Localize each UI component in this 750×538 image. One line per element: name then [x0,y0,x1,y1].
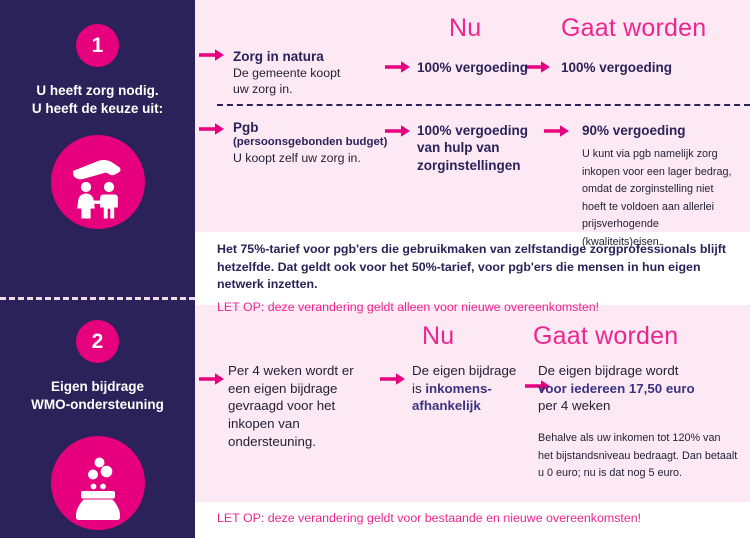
row-3-future-line2: voor iedereen 17,50 euro [538,380,738,398]
row-1-now: 100% vergoeding [417,59,537,76]
section-1-note: Het 75%-tarief voor pgb'ers die gebruikm… [217,241,737,316]
step-1-badge: 1 [76,24,119,67]
step-2-icon-circle [51,436,145,530]
step-1-title-line2: U heeft de keuze uit: [0,100,195,118]
row-3-now-line2: is inkomens- [412,380,534,398]
row-3-future-line1: De eigen bijdrage wordt [538,362,738,380]
row-3-description: Per 4 weken wordt er een eigen bijdrage … [228,362,373,450]
row-3-now-line3: afhankelijk [412,397,534,415]
section-1-header-now: Nu [449,14,481,43]
infographic-page: 1 U heeft zorg nodig. U heeft de keuze u… [0,0,750,538]
step-1-title-line1: U heeft zorg nodig. [0,82,195,100]
row-3-future-detail: Behalve als uw inkomen tot 120% van het … [538,430,738,482]
row-3-now-line1: De eigen bijdrage [412,362,534,380]
row-1-future-value: 100% vergoeding [561,59,711,76]
content-area: Nu Gaat worden Zorg in natura De gemeent… [195,0,750,538]
row-1-future: 100% vergoeding [561,59,711,76]
step-2-title-line2: WMO-ondersteuning [0,396,195,414]
purse-with-coins-icon [51,436,145,530]
row-2-arrow-1 [199,122,225,136]
row-2-future-detail: U kunt via pgb namelijk zorg inkopen voo… [582,146,740,251]
section-2-note: LET OP: deze verandering geldt voor best… [217,510,737,527]
row-2-future-value: 90% vergoeding [582,122,740,139]
row-1-option-title: Zorg in natura [233,48,373,65]
row-1-option-sub: De gemeente koopt uw zorg in. [233,66,373,98]
step-1-rail: 1 U heeft zorg nodig. U heeft de keuze u… [0,0,195,297]
step-2-rail: 2 Eigen bijdrage WMO-ondersteuning [0,300,195,538]
row-2-future: 90% vergoeding U kunt via pgb namelijk z… [582,122,740,251]
step-2-badge: 2 [76,320,119,363]
step-1-title: U heeft zorg nodig. U heeft de keuze uit… [0,82,195,118]
row-2-option-sub-line1: U koopt zelf uw zorg in. [233,151,408,167]
row-3-now-line2-strong: inkomens- [425,381,492,396]
row-2-now-line1: 100% vergoeding [417,122,547,139]
row-3-description-text: Per 4 weken wordt er een eigen bijdrage … [228,362,373,450]
row-2-arrow-3 [544,124,570,138]
section-1-note-warning: LET OP: deze verandering geldt alleen vo… [217,299,737,316]
row-3-future: De eigen bijdrage wordt voor iedereen 17… [538,362,738,482]
row-3-future-line3: per 4 weken [538,397,738,415]
row-1-option: Zorg in natura De gemeente koopt uw zorg… [233,48,373,98]
row-2-now: 100% vergoeding van hulp van zorginstell… [417,122,547,174]
row-2-option-title: Pgb [233,119,408,136]
row-1-now-value: 100% vergoeding [417,59,537,76]
row-3-arrow-2 [380,372,406,386]
row-1-arrow-1 [199,48,225,62]
row-2-option-paren: (persoonsgebonden budget) [233,136,408,150]
section-2-note-warning: LET OP: deze verandering geldt voor best… [217,510,737,527]
section-1-row-divider [217,104,750,106]
row-3-arrow-1 [199,372,225,386]
hand-over-two-people-icon [51,135,145,229]
left-rail: 1 U heeft zorg nodig. U heeft de keuze u… [0,0,195,538]
row-1-option-sub-line2: uw zorg in. [233,82,373,98]
section-2-header-now: Nu [422,322,454,351]
row-3-now: De eigen bijdrage is inkomens- afhankeli… [412,362,534,415]
step-1-icon-circle [51,135,145,229]
row-1-option-sub-line1: De gemeente koopt [233,66,373,82]
row-2-now-line2: van hulp van [417,139,547,156]
row-3-now-line2-plain: is [412,381,425,396]
section-1-note-text: Het 75%-tarief voor pgb'ers die gebruikm… [217,241,737,294]
section-1-header-future: Gaat worden [561,14,706,43]
row-1-arrow-2 [385,60,411,74]
row-2-option: Pgb (persoonsgebonden budget) U koopt ze… [233,119,408,167]
step-2-title: Eigen bijdrage WMO-ondersteuning [0,378,195,414]
row-2-now-line3: zorginstellingen [417,157,547,174]
section-2-header-future: Gaat worden [533,322,678,351]
step-2-title-line1: Eigen bijdrage [0,378,195,396]
